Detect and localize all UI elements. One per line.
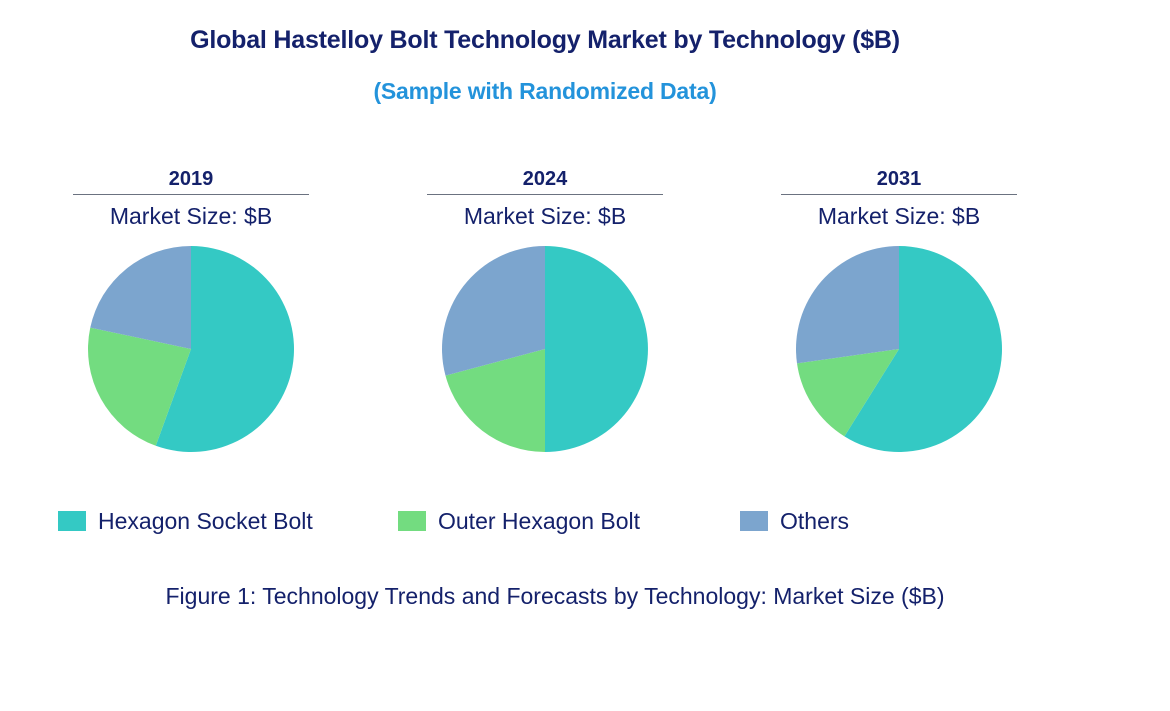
legend-item-label: Others (780, 508, 849, 534)
pie-svg-2024 (441, 245, 649, 453)
column-metric-label: Market Size: $B (110, 201, 272, 231)
pie-chart-2024 (441, 245, 649, 453)
column-divider (427, 194, 663, 195)
legend-item-hexagon-socket-bolt: Hexagon Socket Bolt (58, 508, 398, 534)
column-year-label: 2024 (523, 168, 568, 190)
chart-subtitle: (Sample with Randomized Data) (0, 78, 1090, 105)
legend-item-label: Outer Hexagon Bolt (438, 508, 640, 534)
legend-item-label: Hexagon Socket Bolt (98, 508, 313, 534)
pie-column-2019: 2019 Market Size: $B (56, 168, 326, 453)
legend-item-others: Others (740, 508, 1040, 534)
legend-swatch-icon (398, 511, 426, 531)
column-year-label: 2031 (877, 168, 922, 190)
legend-swatch-icon (740, 511, 768, 531)
pie-svg-2019 (87, 245, 295, 453)
column-metric-label: Market Size: $B (818, 201, 980, 231)
pie-column-2031: 2031 Market Size: $B (764, 168, 1034, 453)
column-divider (73, 194, 309, 195)
column-year-label: 2019 (169, 168, 214, 190)
chart-legend: Hexagon Socket Bolt Outer Hexagon Bolt O… (0, 508, 1090, 534)
legend-item-outer-hexagon-bolt: Outer Hexagon Bolt (398, 508, 740, 534)
pie-chart-2031 (795, 245, 1003, 453)
legend-swatch-icon (58, 511, 86, 531)
column-divider (781, 194, 1017, 195)
chart-page: Global Hastelloy Bolt Technology Market … (0, 0, 1170, 711)
pie-slice-others (796, 246, 899, 363)
chart-title: Global Hastelloy Bolt Technology Market … (0, 26, 1090, 55)
pie-column-2024: 2024 Market Size: $B (410, 168, 680, 453)
pie-columns: 2019 Market Size: $B 2024 Market Size: $… (0, 168, 1090, 453)
pie-svg-2031 (795, 245, 1003, 453)
pie-chart-2019 (87, 245, 295, 453)
pie-slice-hexagon-socket-bolt (545, 246, 648, 452)
figure-caption: Figure 1: Technology Trends and Forecast… (0, 583, 1110, 610)
column-metric-label: Market Size: $B (464, 201, 626, 231)
